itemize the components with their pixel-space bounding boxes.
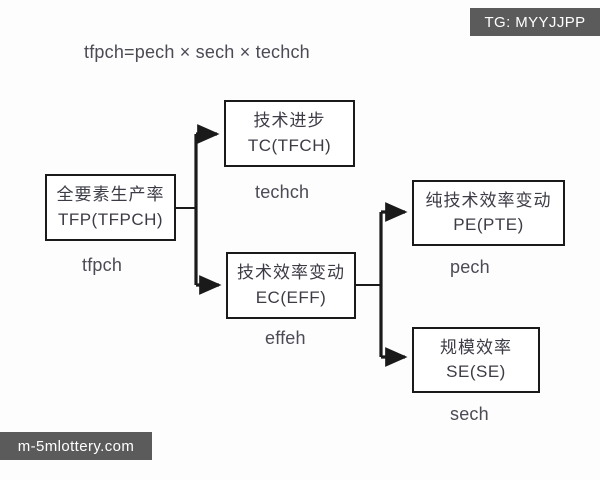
caption-effeh: effeh — [265, 328, 306, 349]
caption-pech: pech — [450, 257, 490, 278]
caption-tfpch: tfpch — [82, 255, 122, 276]
edge-tfp-branch — [176, 134, 196, 285]
node-pe: 纯技术效率变动 PE(PTE) — [412, 180, 565, 246]
node-ec-cn-label: 技术效率变动 — [237, 262, 345, 284]
node-se-cn-label: 规模效率 — [440, 337, 512, 359]
caption-techch: techch — [255, 182, 309, 203]
edge-ec-branch — [356, 212, 381, 357]
node-tc-cn-label: 技术进步 — [254, 110, 326, 132]
diagram-canvas: tfpch=pech × sech × techch 全要素生产率 TFP(TF… — [0, 0, 600, 480]
node-tc: 技术进步 TC(TFCH) — [224, 100, 355, 167]
node-ec: 技术效率变动 EC(EFF) — [226, 252, 356, 319]
node-pe-cn-label: 纯技术效率变动 — [426, 190, 552, 212]
tg-watermark-badge: TG: MYYJJPP — [470, 8, 600, 36]
node-tc-en-label: TC(TFCH) — [248, 135, 331, 157]
node-se-en-label: SE(SE) — [446, 361, 506, 383]
formula-text: tfpch=pech × sech × techch — [84, 42, 310, 63]
node-pe-en-label: PE(PTE) — [453, 214, 524, 236]
node-tfp: 全要素生产率 TFP(TFPCH) — [45, 174, 176, 241]
node-tfp-cn-label: 全要素生产率 — [57, 184, 165, 206]
caption-sech: sech — [450, 404, 489, 425]
node-se: 规模效率 SE(SE) — [412, 327, 540, 393]
node-ec-en-label: EC(EFF) — [256, 287, 327, 309]
node-tfp-en-label: TFP(TFPCH) — [58, 209, 163, 231]
site-watermark-badge: m-5mlottery.com — [0, 432, 152, 460]
